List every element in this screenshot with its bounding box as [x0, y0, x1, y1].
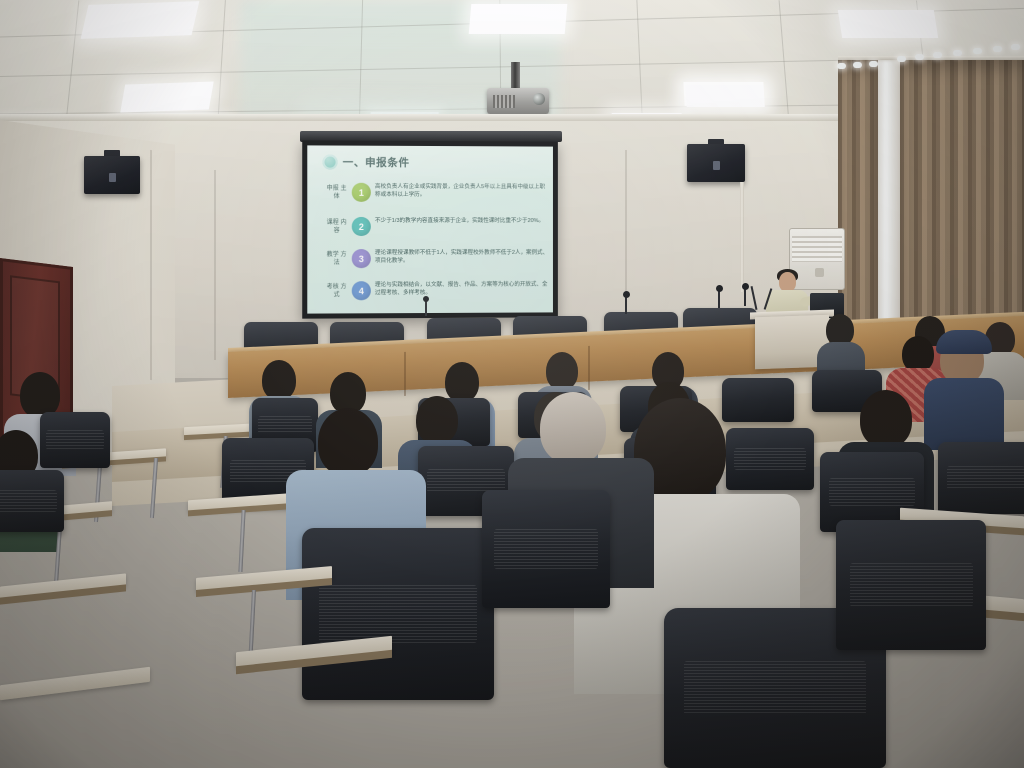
screen-glare	[307, 145, 553, 196]
air-conditioner-badge	[815, 268, 824, 277]
baseball-cap-icon	[936, 330, 992, 354]
slide-row-label: 考核 方式	[325, 280, 347, 299]
attendee-head	[416, 396, 458, 444]
slide-row: 课程 内容 2 不少于1/3的教学内容直接来源于企业，实践性课时比重不少于20%…	[325, 216, 549, 236]
attendee-chair[interactable]	[938, 442, 1024, 514]
slide-row-number: 2	[352, 217, 371, 236]
attendee-head	[262, 360, 296, 400]
slide-row-label: 教学 方法	[325, 248, 347, 267]
slide-row-number: 4	[352, 281, 371, 300]
attendee-chair[interactable]	[302, 528, 494, 700]
ceiling-light-panel	[838, 10, 938, 38]
student-desk	[0, 667, 150, 700]
projection-screen: 一、申报条件 申报 主体 1 高校负责人有企业或实践背景，企业负责人5年以上且具…	[302, 140, 558, 318]
attendee-head	[902, 336, 934, 372]
slide-row-number: 3	[352, 249, 371, 268]
attendee-head	[318, 408, 378, 476]
attendee-chair[interactable]	[726, 428, 814, 490]
table-microphone	[718, 290, 720, 308]
table-microphone	[744, 288, 746, 306]
air-conditioner-grill	[792, 236, 842, 262]
ceiling-light-panel	[469, 4, 568, 34]
projector-vent	[493, 95, 515, 108]
wall-speaker-left	[84, 156, 140, 194]
attendee-chair[interactable]	[482, 490, 610, 608]
slide-content: 一、申报条件 申报 主体 1 高校负责人有企业或实践背景，企业负责人5年以上且具…	[307, 145, 553, 313]
attendee-chair[interactable]	[722, 378, 794, 422]
attendee-head	[860, 390, 912, 448]
attendee-chair[interactable]	[0, 470, 64, 532]
slide-row-text: 理论课程授课教师不低于1人，实践课程校外教师不低于2人，案例式、项目化教学。	[375, 248, 549, 265]
ceiling-light-panel	[120, 81, 213, 112]
slide-row-text: 不少于1/3的教学内容直接来源于企业，实践性课时比重不少于20%。	[375, 216, 549, 225]
slide-row: 教学 方法 3 理论课程授课教师不低于1人，实践课程校外教师不低于2人，案例式、…	[325, 248, 549, 268]
wall-speaker-right	[687, 144, 745, 182]
attendee-torso	[924, 378, 1004, 450]
lecture-hall-scene: 一、申报条件 申报 主体 1 高校负责人有企业或实践背景，企业负责人5年以上且具…	[0, 0, 1024, 768]
slide-row: 考核 方式 4 理论与实践相结合，以文献、报告、作品、方案等为核心的开放式、全过…	[325, 280, 549, 301]
slide-row-text: 理论与实践相结合，以文献、报告、作品、方案等为核心的开放式、全过程考核、多样考核…	[375, 280, 549, 298]
attendee-head	[540, 392, 606, 464]
table-microphone	[625, 296, 627, 314]
front-table-microphone	[425, 300, 427, 316]
wall-cable-conduit	[740, 182, 744, 292]
attendee-head	[445, 362, 479, 402]
slide-row-label: 课程 内容	[325, 216, 347, 235]
projector-lens-icon	[533, 93, 545, 105]
ceiling-light-panel	[81, 1, 200, 39]
attendee-chair[interactable]	[836, 520, 986, 650]
ceiling-light-panel	[685, 85, 765, 107]
presenter-head	[779, 272, 796, 292]
attendee-head	[546, 352, 578, 390]
attendee-chair[interactable]	[40, 412, 110, 468]
